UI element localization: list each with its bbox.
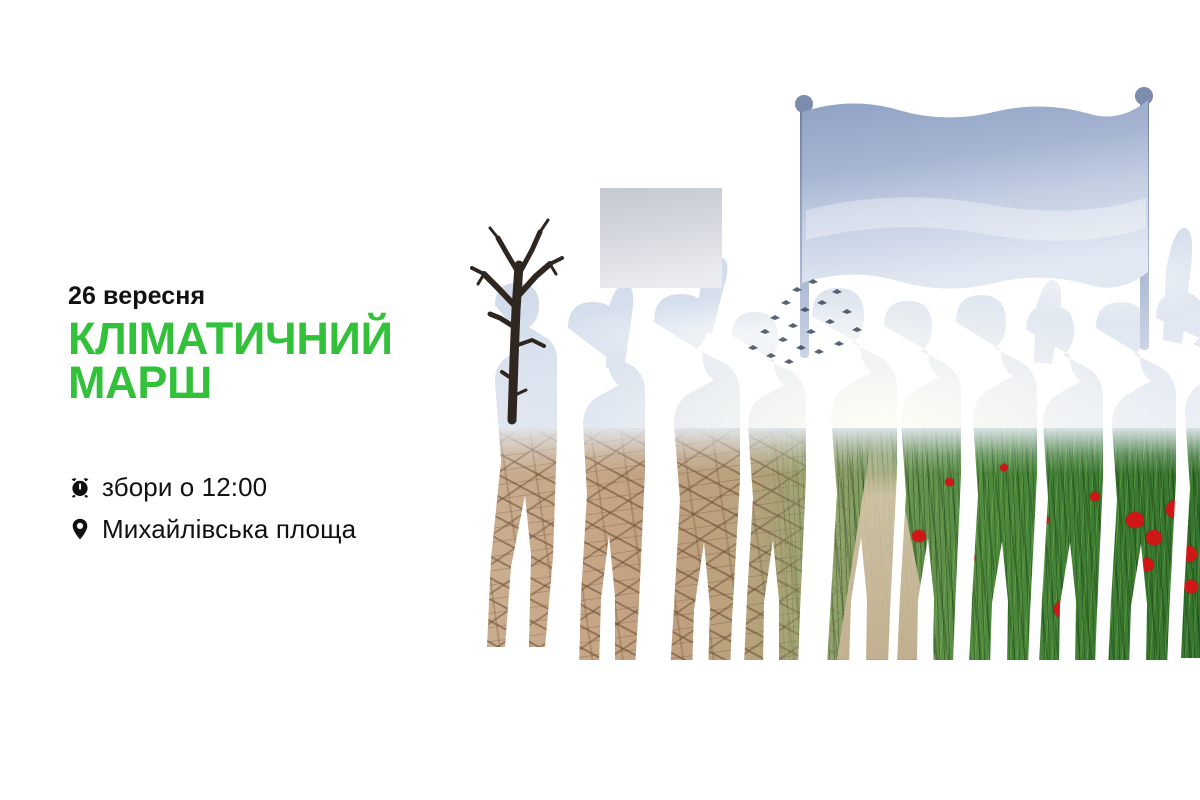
poppy-flower [1180,546,1197,562]
poster-canvas: 26 вересня КЛІМАТИЧНИЙ МАРШ з [0,0,1200,800]
poppy-flower [1146,530,1162,545]
poppy-flower [912,530,926,542]
poppy-flower [1184,580,1198,593]
poppy-flower [1000,464,1008,471]
event-date: 26 вересня [68,283,468,311]
artwork-collage [440,60,1200,660]
poppy-flower [1038,515,1049,525]
poppy-flower [1140,558,1154,571]
detail-time-label: збори о 12:00 [102,472,267,503]
poppy-flower [1166,500,1186,518]
poppy-flower [1126,512,1144,528]
poppy-flower [968,554,976,561]
poppy-flower [945,478,954,486]
headline-line-2: МАРШ [68,361,468,405]
headline-block: 26 вересня КЛІМАТИЧНИЙ МАРШ [68,283,468,405]
horizon-haze [440,428,1200,474]
event-details: збори о 12:00 Михайлівська площа [68,466,356,550]
detail-location-label: Михайлівська площа [102,514,356,545]
poppy-flower [1090,492,1100,501]
page-title: КЛІМАТИЧНИЙ МАРШ [68,317,468,405]
detail-row-time: збори о 12:00 [68,466,356,508]
headline-line-1: КЛІМАТИЧНИЙ [68,313,393,364]
alarm-clock-icon [68,475,102,499]
poppy-flower [1054,600,1076,618]
detail-row-location: Михайлівська площа [68,508,356,550]
crowd-silhouette [440,60,1200,660]
location-pin-icon [68,517,102,541]
